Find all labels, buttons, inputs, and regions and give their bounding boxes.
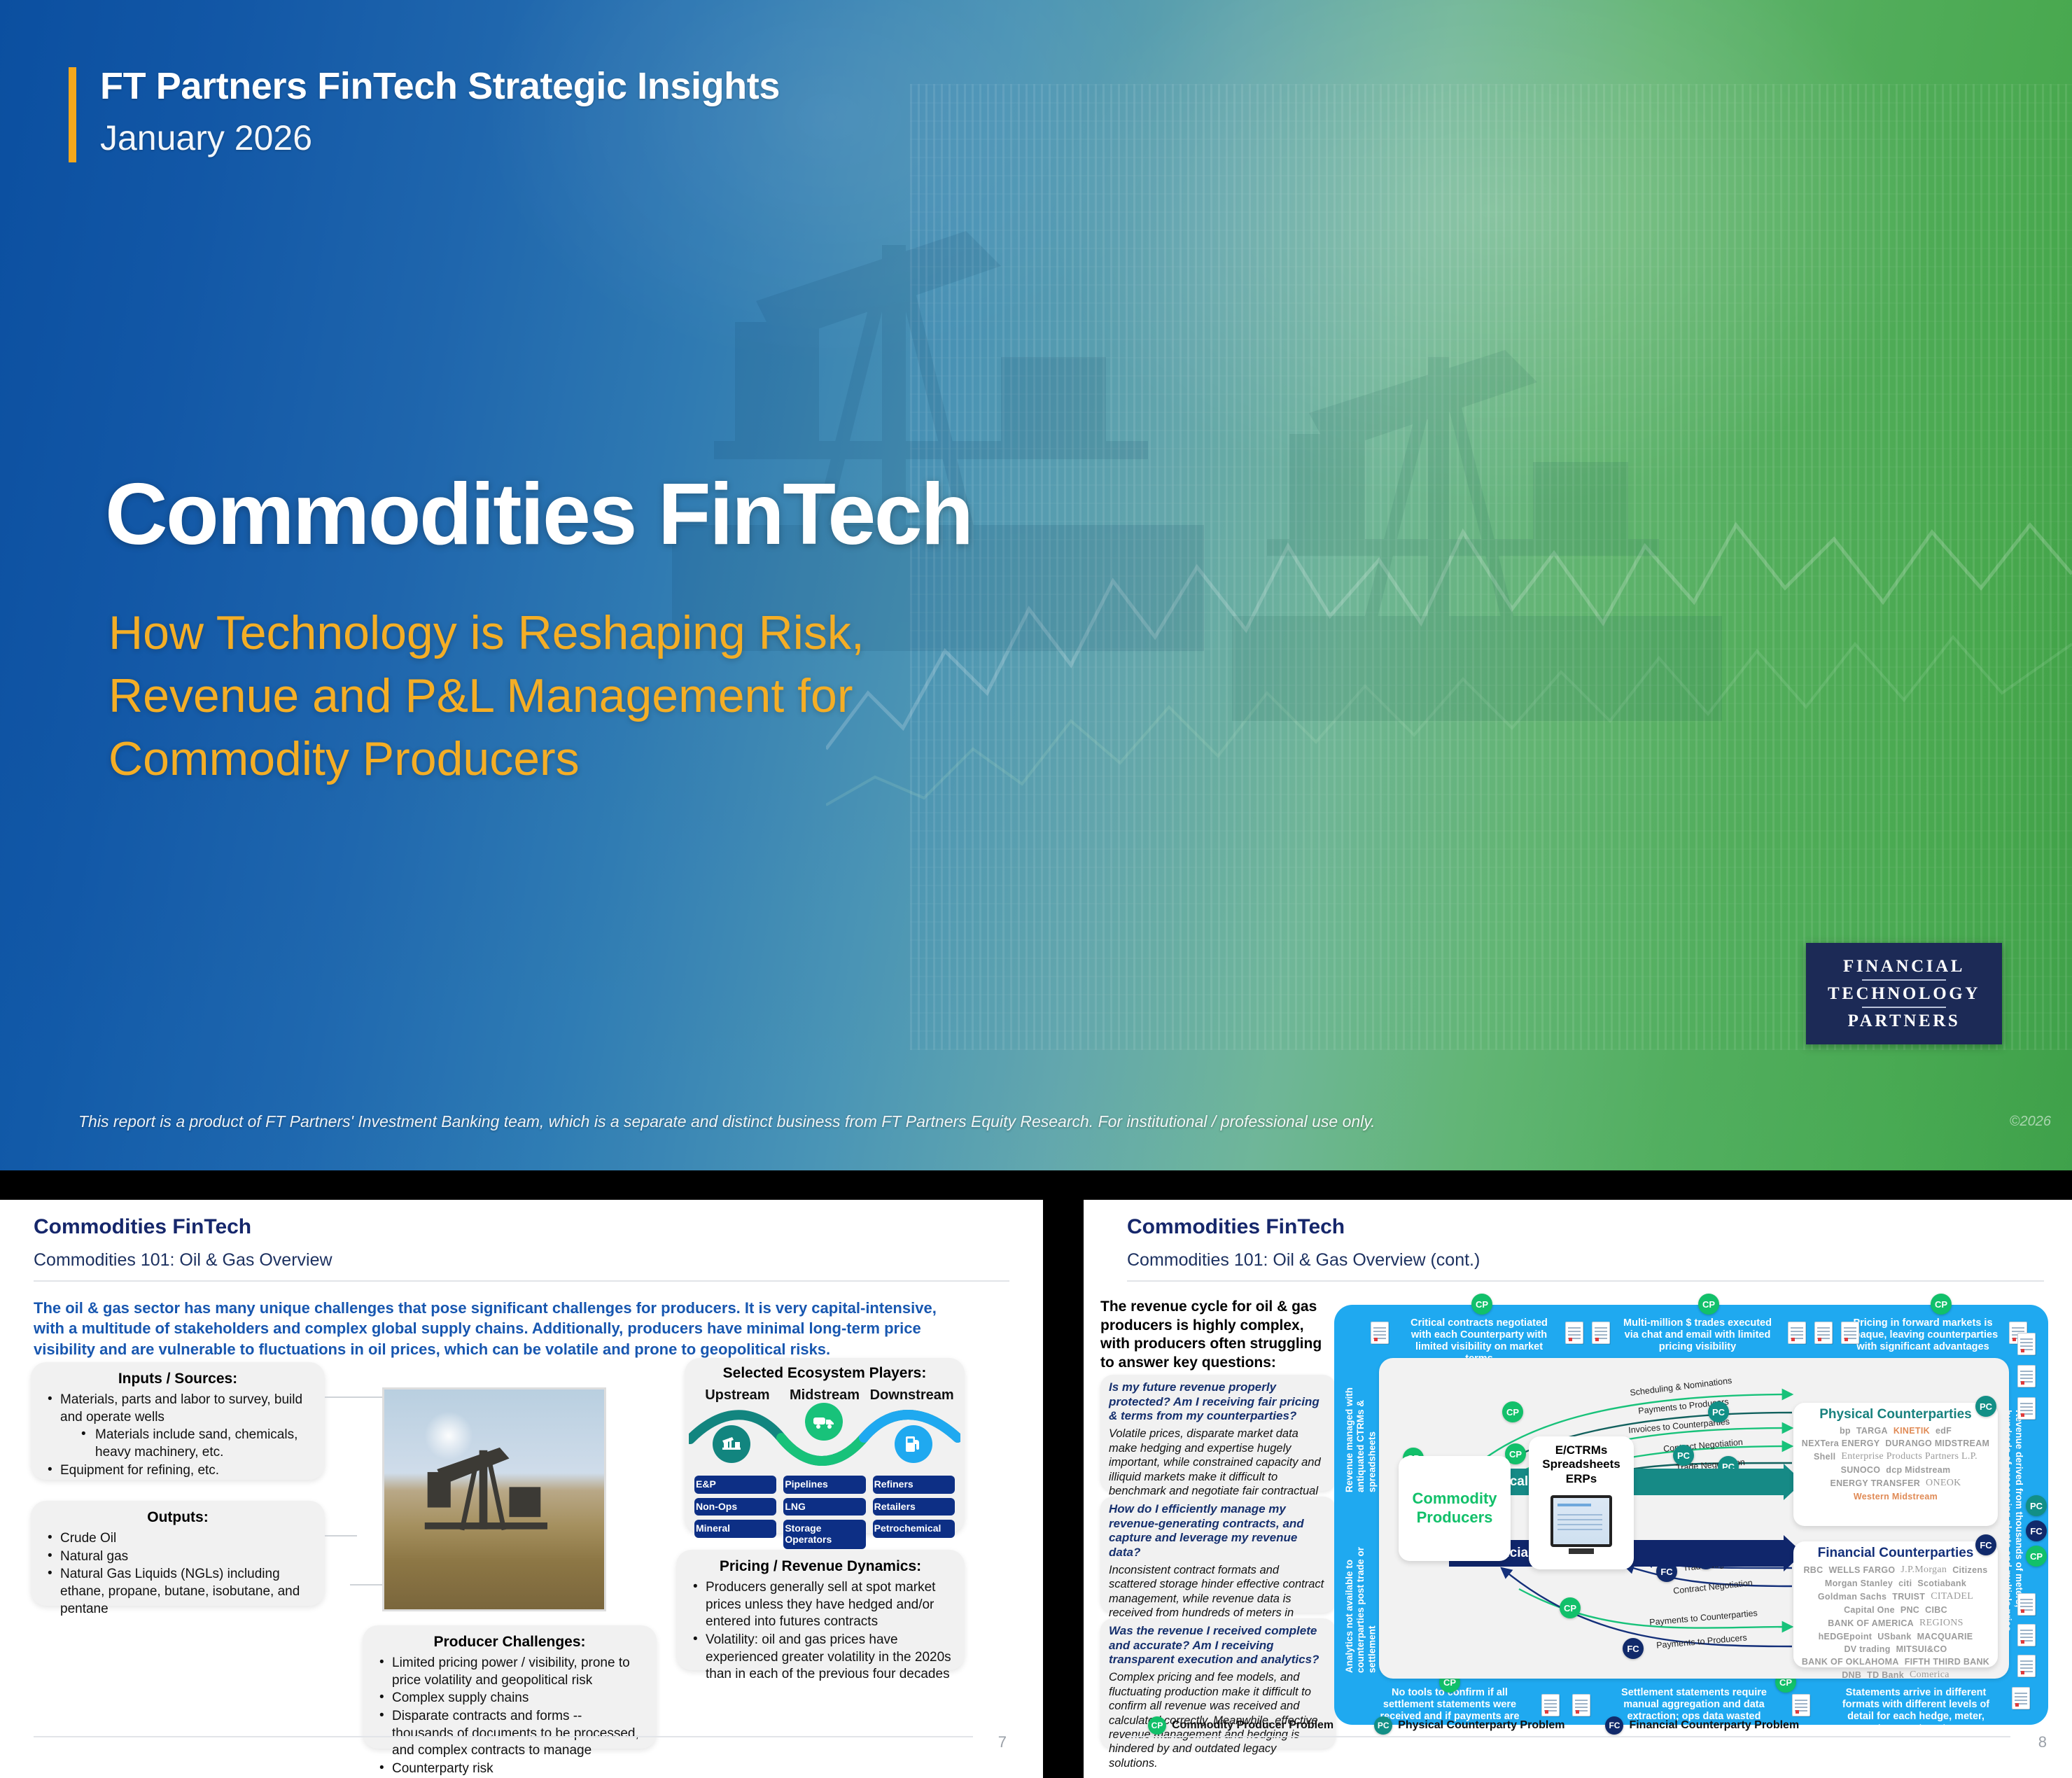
list-item: Volatility: oil and gas prices have expe…	[687, 1632, 953, 1683]
logo-rbc: RBC	[1803, 1565, 1823, 1575]
list-item: Limited pricing power / visibility, pron…	[374, 1655, 645, 1689]
logo-bank-of-america: BANK OF AMERICA	[1828, 1618, 1914, 1628]
diagram-bottom-note-3: Statements arrive in different formats w…	[1835, 1687, 1996, 1735]
cover-copyright: ©2026	[2010, 1114, 2051, 1130]
financial-counterparty-logos: RBC WELLS FARGO J.P.Morgan Citizens Morg…	[1800, 1564, 1991, 1681]
document-icon	[2017, 1365, 2036, 1387]
question-card-contract-management: How do I efficiently manage my revenue-g…	[1100, 1497, 1336, 1613]
systems-node: E/CTRMs Spreadsheets ERPs	[1529, 1436, 1634, 1569]
producer-challenges-heading: Producer Challenges:	[374, 1634, 645, 1651]
badge-cp-legend: CP	[1148, 1716, 1166, 1735]
diagram-left-vertical-label-1: Revenue managed with antiquated CTRMs & …	[1344, 1366, 1376, 1492]
list-item: Producers generally sell at spot market …	[687, 1579, 953, 1631]
chip-storage-operators[interactable]: Storage Operators	[783, 1520, 865, 1548]
logo-mitsui: MITSUI&CO	[1896, 1644, 1947, 1654]
question-text: Was the revenue I received complete and …	[1109, 1624, 1327, 1667]
diagram-legend: CP Commodity Producer Problem PC Physica…	[1148, 1716, 1799, 1735]
slide-right-header-rule	[1127, 1280, 2044, 1282]
badge-cp-right: CP	[2026, 1546, 2047, 1567]
chip-retailers[interactable]: Retailers	[873, 1498, 955, 1516]
logo-goldman-sachs: Goldman Sachs	[1818, 1592, 1886, 1602]
slide-left-lead-paragraph: The oil & gas sector has many unique cha…	[34, 1298, 958, 1359]
document-icon	[1788, 1322, 1806, 1344]
chip-non-ops[interactable]: Non-Ops	[694, 1498, 776, 1516]
badge-pc-physical-box: PC	[1975, 1396, 1996, 1417]
document-icon	[1541, 1694, 1560, 1716]
logo-targa: TARGA	[1856, 1426, 1888, 1436]
logo-durango-midstream: DURANGO MIDSTREAM	[1885, 1438, 1989, 1448]
logo-wells-fargo: WELLS FARGO	[1828, 1565, 1895, 1575]
cover-kicker: FT Partners FinTech Strategic Insights	[100, 64, 780, 108]
logo-oneok: ONEOK	[1926, 1478, 1961, 1489]
list-item: Counterparty risk	[374, 1760, 645, 1778]
slide-oil-gas-overview-cont[interactable]: Commodities FinTech Commodities 101: Oil…	[1084, 1200, 2072, 1778]
logo-line-technology: TECHNOLOGY	[1828, 985, 1980, 1002]
ecosystem-column-midstream: Midstream	[782, 1387, 868, 1403]
slide-right-title: Commodities FinTech	[1127, 1215, 1345, 1239]
logo-enterprise-products: Enterprise Products Partners L.P.	[1841, 1451, 1977, 1462]
document-icon	[2017, 1593, 2036, 1616]
diagram-top-note-3: Pricing in forward markets is opaque, le…	[1845, 1317, 2001, 1353]
financial-counterparties-heading: Financial Counterparties	[1800, 1546, 1991, 1561]
logo-cibc: CIBC	[1925, 1605, 1947, 1615]
badge-fc-financial-box: FC	[1975, 1534, 1996, 1555]
list-item: Complex supply chains	[374, 1690, 645, 1707]
ecosystem-chip-grid: E&P Non-Ops Mineral Pipelines LNG Storag…	[694, 1471, 955, 1549]
document-icon	[2017, 1655, 2036, 1677]
slide-left-page-number: 7	[998, 1733, 1007, 1751]
legend-label-fc: Financial Counterparty Problem	[1629, 1719, 1799, 1732]
logo-western-midstream: Western Midstream	[1854, 1492, 1938, 1501]
cover-slide: FT Partners FinTech Strategic Insights J…	[0, 0, 2072, 1170]
legend-item-fc: FC Financial Counterparty Problem	[1605, 1716, 1799, 1735]
pricing-revenue-dynamics-card: Pricing / Revenue Dynamics: Producers ge…	[676, 1550, 965, 1670]
badge-fc-legend: FC	[1605, 1716, 1623, 1735]
logo-dcp-midstream: dcp Midstream	[1886, 1465, 1950, 1475]
title-accent-bar	[69, 67, 76, 162]
list-item: Disparate contracts and forms -- thousan…	[374, 1708, 645, 1760]
cover-subtitle-line-2: Revenue and P&L Management for	[108, 665, 1018, 728]
logo-td-bank: TD Bank	[1867, 1670, 1904, 1680]
legend-label-pc: Physical Counterparty Problem	[1398, 1719, 1564, 1732]
badge-pc-legend: PC	[1374, 1716, 1392, 1735]
document-icon	[2017, 1333, 2036, 1355]
logo-dnb: DNB	[1842, 1670, 1861, 1680]
logo-fifth-third-bank: FIFTH THIRD BANK	[1905, 1657, 1989, 1667]
chip-mineral[interactable]: Mineral	[694, 1520, 776, 1538]
ft-partners-logo: FINANCIAL TECHNOLOGY PARTNERS	[1806, 943, 2002, 1044]
logo-sunoco: SUNOCO	[1841, 1465, 1881, 1475]
cover-title: Commodities FinTech	[105, 469, 972, 560]
badge-pc-right: PC	[2026, 1495, 2047, 1516]
question-text: How do I efficiently manage my revenue-g…	[1109, 1502, 1327, 1560]
ecosystem-column-upstream: Upstream	[694, 1387, 780, 1403]
document-icon	[2017, 1624, 2036, 1646]
physical-counterparty-logos: bp TARGA KINETIK edF NEXTera ENERGY DURA…	[1800, 1426, 1991, 1501]
badge-fc-arc-3: FC	[1623, 1638, 1644, 1659]
cover-date: January 2026	[100, 118, 312, 158]
document-icon	[1565, 1322, 1583, 1344]
logo-bank-of-oklahoma: BANK OF OKLAHOMA	[1802, 1657, 1899, 1667]
logo-shell: Shell	[1814, 1452, 1835, 1462]
logo-citi: citi	[1898, 1578, 1912, 1588]
producer-challenges-list: Limited pricing power / visibility, pron…	[374, 1655, 645, 1778]
cover-subtitle-line-3: Commodity Producers	[108, 728, 1018, 791]
pumpjack-silhouette-right	[1232, 287, 1722, 721]
ecosystem-chips-upstream: E&P Non-Ops Mineral	[694, 1471, 776, 1549]
logo-citadel: CITADEL	[1931, 1591, 1973, 1602]
ecosystem-label-upstream: Upstream	[694, 1387, 780, 1403]
logo-morgan-stanley: Morgan Stanley	[1825, 1578, 1893, 1588]
selected-ecosystem-players-card: Selected Ecosystem Players: Upstream Mid…	[685, 1358, 965, 1533]
cover-subtitle-line-1: How Technology is Reshaping Risk,	[108, 602, 1018, 665]
document-icon	[1572, 1694, 1590, 1716]
connector-lines	[175, 1375, 406, 1655]
legend-label-cp: Commodity Producer Problem	[1172, 1719, 1333, 1732]
logo-divider-1	[1862, 979, 1946, 981]
legend-item-cp: CP Commodity Producer Problem	[1148, 1716, 1333, 1735]
document-icon	[2017, 1397, 2036, 1420]
logo-line-financial: FINANCIAL	[1843, 958, 1965, 975]
logo-bp: bp	[1840, 1426, 1851, 1436]
document-icon	[1814, 1322, 1833, 1344]
physical-counterparties-box: Physical Counterparties bp TARGA KINETIK…	[1793, 1403, 1998, 1526]
ecosystem-heading: Selected Ecosystem Players:	[694, 1365, 955, 1382]
monitor-stand	[1569, 1548, 1594, 1554]
logo-hedgepoint: hEDGEpoint	[1819, 1632, 1872, 1641]
slide-right-page-number: 8	[2038, 1733, 2047, 1751]
logo-comerica: Comerica	[1910, 1669, 1949, 1681]
slide-right-subtitle: Commodities 101: Oil & Gas Overview (con…	[1127, 1250, 1480, 1270]
logo-usbank: USbank	[1877, 1632, 1911, 1641]
diagram-top-note-2: Multi-million $ trades executed via chat…	[1623, 1317, 1772, 1353]
slide-left-subtitle: Commodities 101: Oil & Gas Overview	[34, 1250, 332, 1270]
pumpjack-photo-silhouette	[419, 1416, 556, 1574]
document-icon	[1841, 1322, 1859, 1344]
pricing-revenue-heading: Pricing / Revenue Dynamics:	[687, 1558, 953, 1575]
document-icon	[1592, 1322, 1610, 1344]
question-text: Is my future revenue properly protected?…	[1109, 1380, 1327, 1424]
systems-node-label: E/CTRMs Spreadsheets ERPs	[1529, 1443, 1634, 1486]
commodity-producers-node: Commodity Producers	[1399, 1456, 1511, 1561]
commodity-producers-label: Commodity Producers	[1399, 1490, 1511, 1527]
badge-cp-top-2: CP	[1698, 1294, 1719, 1315]
slide-left-header-rule	[34, 1280, 1009, 1282]
badge-cp-arc-1: CP	[1502, 1401, 1523, 1422]
badge-pc-arc-1: PC	[1708, 1401, 1729, 1422]
badge-cp-top-3: CP	[1931, 1294, 1952, 1315]
document-icon	[1371, 1322, 1389, 1344]
logo-citizens: Citizens	[1952, 1565, 1987, 1575]
logo-divider-2	[1862, 1007, 1946, 1008]
diagram-inner-panel: Scheduling & Nominations Payments to Pro…	[1379, 1358, 2009, 1679]
badge-pc-arc-3: PC	[1673, 1445, 1694, 1466]
logo-line-partners: PARTNERS	[1848, 1012, 1961, 1030]
logo-jpmorgan: J.P.Morgan	[1900, 1564, 1947, 1576]
producer-challenges-card: Producer Challenges: Limited pricing pow…	[363, 1625, 657, 1749]
document-icon	[1792, 1694, 1810, 1716]
document-icon	[2012, 1687, 2030, 1709]
logo-edf: edF	[1935, 1426, 1952, 1436]
ecosystem-columns: Upstream Midstream Downstream	[694, 1387, 955, 1403]
logo-truist: TRUIST	[1892, 1592, 1925, 1602]
slide-strip: Commodities FinTech Commodities 101: Oil…	[0, 1170, 2072, 1778]
logo-kinetik: KINETIK	[1893, 1426, 1930, 1436]
badge-cp-arc-5: CP	[1560, 1597, 1581, 1618]
ecosystem-label-midstream: Midstream	[782, 1387, 868, 1403]
monitor-screen	[1553, 1498, 1609, 1544]
logo-energy-transfer: ENERGY TRANSFER	[1830, 1478, 1920, 1488]
chip-petrochemical[interactable]: Petrochemical	[873, 1520, 955, 1538]
monitor-icon	[1550, 1495, 1612, 1547]
slide-right-footer-rule	[1127, 1736, 2010, 1737]
badge-fc-right: FC	[2026, 1520, 2047, 1541]
logo-macquarie: MACQUARIE	[1917, 1632, 1973, 1641]
chip-refiners[interactable]: Refiners	[873, 1476, 955, 1494]
slide-left-title: Commodities FinTech	[34, 1215, 251, 1239]
slide-oil-gas-overview[interactable]: Commodities FinTech Commodities 101: Oil…	[0, 1200, 1043, 1778]
oil-derrick-photo	[382, 1387, 606, 1611]
logo-dv-trading: DV trading	[1844, 1644, 1890, 1654]
fuel-pump-icon	[895, 1425, 932, 1463]
slide-right-lead-paragraph: The revenue cycle for oil & gas producer…	[1100, 1298, 1331, 1373]
logo-pnc: PNC	[1900, 1605, 1919, 1615]
diagram-left-vertical-label-2: Analytics not available to counterpartie…	[1344, 1536, 1376, 1673]
logo-nextera-energy: NEXTera ENERGY	[1802, 1438, 1880, 1448]
chip-pipelines[interactable]: Pipelines	[783, 1476, 865, 1494]
legend-item-pc: PC Physical Counterparty Problem	[1374, 1716, 1564, 1735]
pumpjack-silhouette-left	[672, 161, 1204, 651]
pricing-revenue-list: Producers generally sell at spot market …	[687, 1579, 953, 1683]
slide-left-footer-rule	[34, 1736, 973, 1737]
physical-counterparties-heading: Physical Counterparties	[1800, 1407, 1991, 1422]
ecosystem-column-downstream: Downstream	[869, 1387, 955, 1403]
financial-counterparties-box: Financial Counterparties RBC WELLS FARGO…	[1793, 1541, 1998, 1667]
ecosystem-label-downstream: Downstream	[869, 1387, 955, 1403]
oil-pump-icon	[713, 1425, 750, 1463]
logo-regions: REGIONS	[1919, 1618, 1963, 1629]
badge-cp-top-1: CP	[1471, 1294, 1492, 1315]
chip-ep[interactable]: E&P	[694, 1476, 776, 1494]
tanker-truck-icon	[805, 1403, 843, 1441]
logo-capital-one: Capital One	[1844, 1605, 1895, 1615]
revenue-cycle-diagram: CP CP CP Critical contracts negotiated w…	[1334, 1305, 2048, 1725]
ecosystem-chips-midstream: Pipelines LNG Storage Operators	[783, 1471, 865, 1549]
logo-scotiabank: Scotiabank	[1917, 1578, 1966, 1588]
chip-lng[interactable]: LNG	[783, 1498, 865, 1516]
question-card-revenue-protection: Is my future revenue properly protected?…	[1100, 1375, 1336, 1491]
ecosystem-chips-downstream: Refiners Retailers Petrochemical	[873, 1471, 955, 1549]
cover-subtitle: How Technology is Reshaping Risk, Revenu…	[108, 602, 1018, 790]
cover-disclaimer: This report is a product of FT Partners'…	[78, 1112, 1375, 1131]
